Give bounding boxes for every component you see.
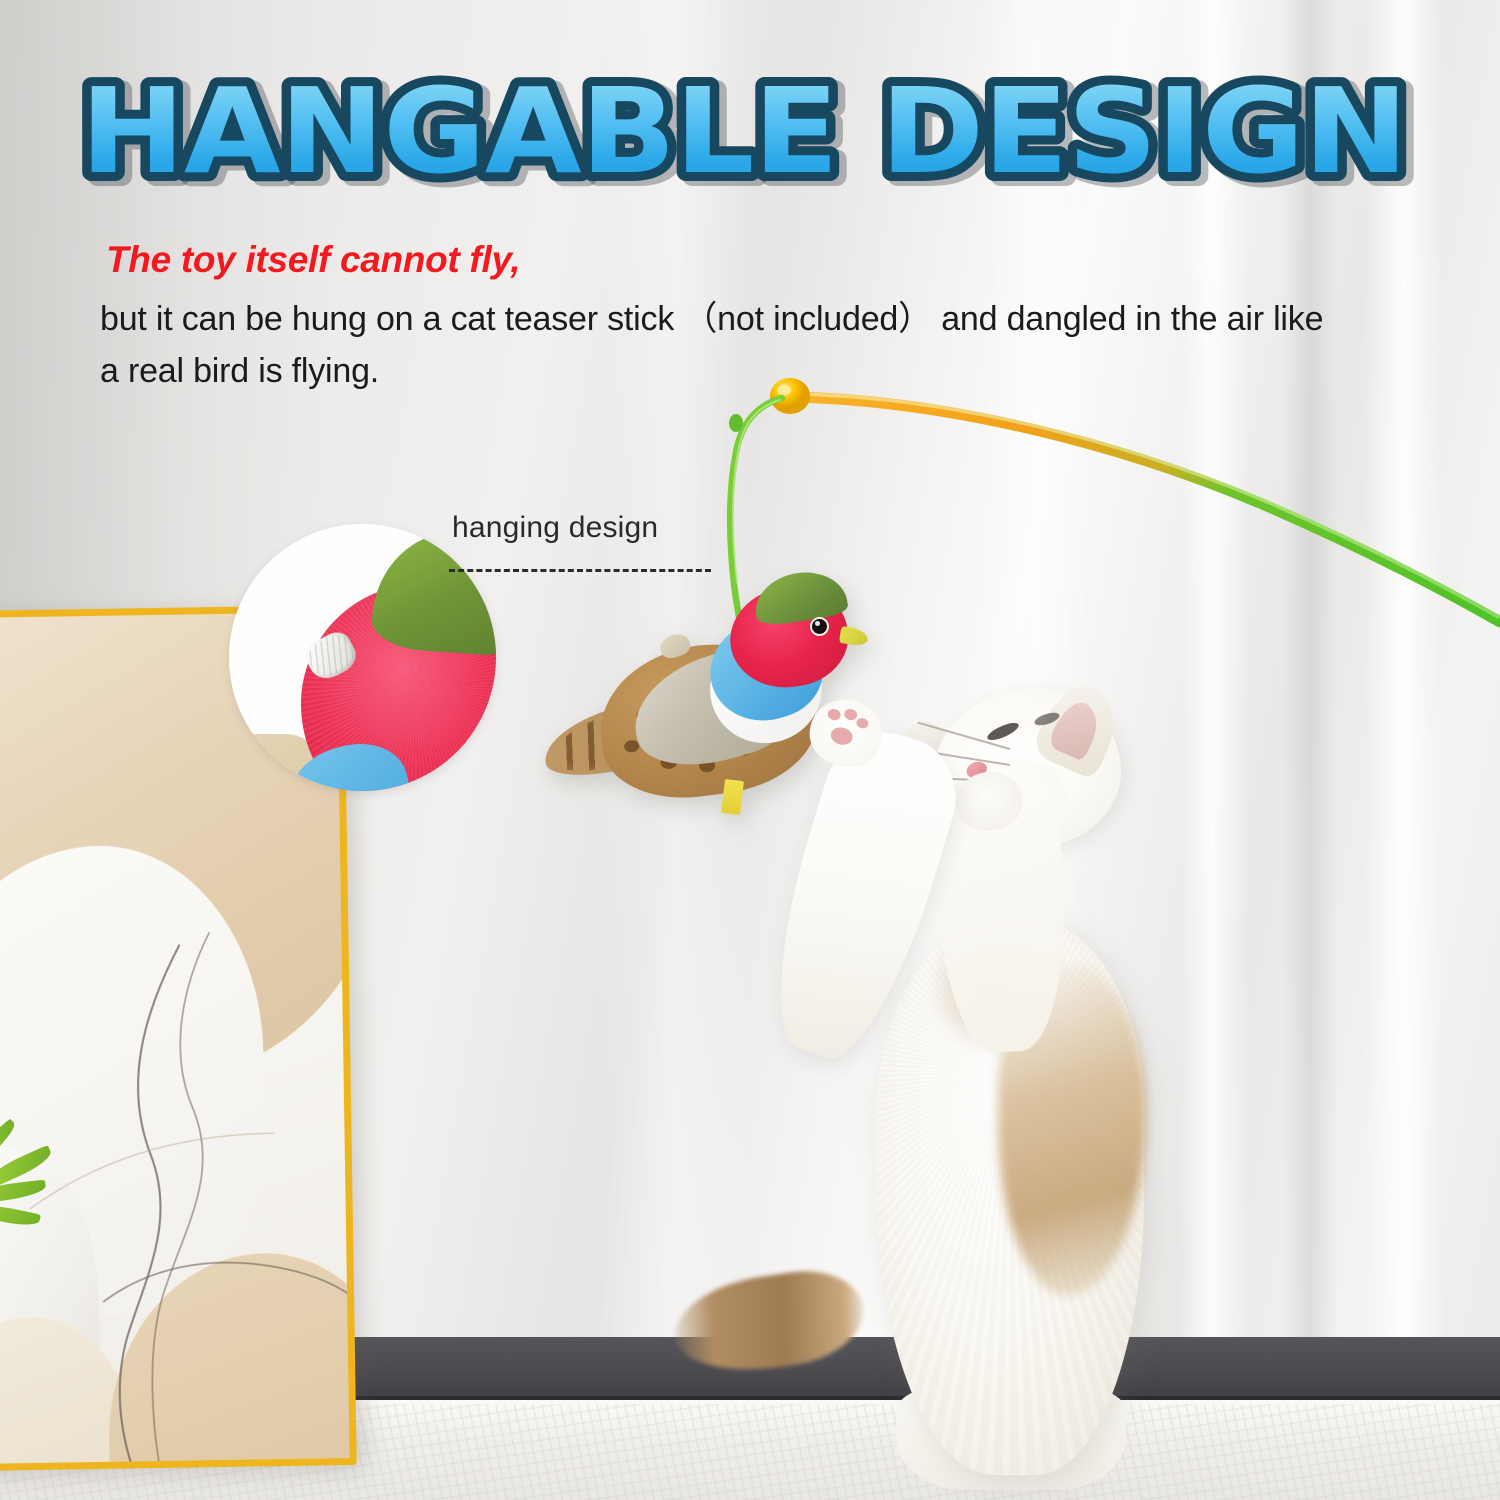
cat [780, 690, 1220, 1500]
plant-leaves [0, 1130, 134, 1260]
svg-text:HANGABLE DESIGN: HANGABLE DESIGN [80, 62, 1407, 200]
annotation-dashed-leader-line [449, 569, 711, 572]
bird-eye [810, 617, 829, 636]
bird-yellow-tag [721, 779, 744, 815]
zoom-detail-circle [229, 524, 496, 791]
page-title: HANGABLE DESIGN HANGABLE DESIGN HANGABLE… [76, 72, 1256, 202]
annotation-label-hanging-design: hanging design [452, 511, 658, 545]
subheadline: The toy itself cannot fly, [106, 239, 520, 281]
body-text: but it can be hung on a cat teaser stick… [100, 294, 1340, 397]
product-feature-image: hanging design HANGABLE DESIGN HANGABLE … [0, 0, 1500, 1500]
